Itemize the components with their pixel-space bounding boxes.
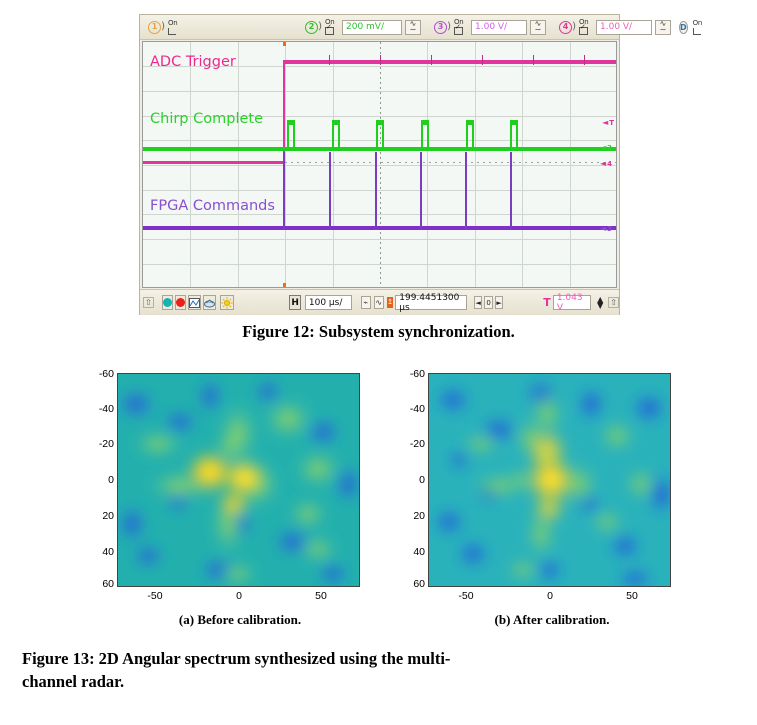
roll-mode-icon[interactable]: ∿	[374, 296, 384, 309]
digital-checkbox[interactable]	[693, 28, 701, 35]
heatmap-b-ytick: -40	[397, 403, 425, 415]
waveform-label-chirp-complete: Chirp Complete	[150, 111, 263, 127]
figure-13-caption-line1: Figure 13: 2D Angular spectrum synthesiz…	[22, 649, 752, 669]
marker-arrow-icon: ◄	[600, 159, 606, 168]
trigger-level-field[interactable]: 1.043 V	[553, 295, 591, 310]
scope-waveform-plot[interactable]: ADC Trigger Chirp Complete FPGA Commands…	[142, 41, 617, 288]
channel-2-scale-field[interactable]: 200 mV/	[342, 20, 402, 35]
chirp-complete-pulse	[287, 120, 295, 151]
trigger-level-stepper[interactable]: ▲ ▼	[597, 297, 603, 309]
fpga-command-pulse	[375, 152, 377, 230]
channel-3-checkbox[interactable]	[454, 27, 463, 35]
channel-4-number[interactable]: 4	[559, 21, 575, 34]
figure-13-caption-line2: channel radar.	[22, 672, 752, 692]
channel-3-on-toggle[interactable]: On	[454, 19, 467, 35]
stepper-down-icon[interactable]: ▼	[597, 303, 603, 309]
channel-2-on-toggle[interactable]: On	[325, 19, 338, 35]
heatmap-a-ytick: 40	[86, 546, 114, 558]
marker-channel-3[interactable]: ◄ 3	[600, 224, 612, 233]
adc-trigger-spike	[380, 55, 381, 65]
heatmap-a-ytick: -60	[86, 368, 114, 380]
marker-trigger-label: T	[609, 119, 614, 127]
center-vertical-axis	[380, 42, 381, 287]
heatmap-a-xtick: 50	[306, 590, 336, 602]
figure-12-caption: Figure 12: Subsystem synchronization.	[0, 322, 757, 342]
heatmap-a-ytick: -40	[86, 403, 114, 415]
waveform-label-adc-trigger: ADC Trigger	[150, 54, 236, 70]
channel-3-group[interactable]: 3 On 1.00 V/ ∿∼	[428, 15, 546, 40]
channel-4-on-toggle[interactable]: On	[579, 19, 592, 35]
chirp-complete-pulse	[510, 120, 518, 151]
run-icon[interactable]	[162, 295, 173, 310]
marker-channel-3-label: 3	[607, 225, 612, 233]
oscilloscope-screenshot: 1 On 2 On 200 mV/ ∿∼ 3 On	[139, 14, 620, 315]
scope-top-toolbar: 1 On 2 On 200 mV/ ∿∼ 3 On	[140, 15, 619, 40]
save-icon[interactable]	[203, 295, 216, 310]
gridline-v	[333, 42, 334, 287]
chirp-complete-pulse	[421, 120, 429, 151]
digital-on-text: On	[693, 20, 702, 27]
trigger-position-marker-bottom[interactable]	[283, 283, 286, 287]
delay-value-field[interactable]: 0	[484, 296, 493, 309]
fpga-command-pulse	[510, 152, 512, 230]
fpga-command-pulse	[420, 152, 422, 230]
heatmap-b-ytick: -60	[397, 368, 425, 380]
channel-1-number[interactable]: 1	[148, 21, 164, 34]
channel-2-label: 2	[305, 21, 318, 34]
adc-trigger-spike	[584, 55, 585, 65]
horizontal-button[interactable]: H	[289, 295, 300, 310]
trigger-position-marker-top[interactable]	[283, 42, 286, 46]
delay-decrement-button[interactable]: ◄	[474, 296, 483, 309]
waveform-label-fpga-commands: FPGA Commands	[150, 198, 275, 214]
scope-bottom-toolbar: ⇧ H 100 µs/ ⌁ ∿ ↥ 199.4451300 µs ◄ 0 ► T…	[140, 289, 619, 315]
heatmap-b-ytick: 60	[397, 578, 425, 590]
chirp-complete-pulse	[332, 120, 340, 151]
channel-3-coupling-icon[interactable]: ∿∼	[530, 20, 546, 35]
fpga-commands-baseline	[143, 226, 617, 230]
chirp-complete-pulse	[466, 120, 474, 151]
gridline-v	[570, 42, 571, 287]
channel-2-checkbox[interactable]	[325, 27, 334, 35]
adc-trigger-high-segment	[284, 60, 617, 64]
autoscale-icon[interactable]	[220, 295, 234, 310]
subcaption-a: (a) Before calibration.	[100, 612, 380, 628]
channel-2-group[interactable]: 2 On 200 mV/ ∿∼	[299, 15, 421, 40]
marker-trigger[interactable]: ◄ T	[602, 118, 614, 127]
heatmap-b-plot-area[interactable]	[428, 373, 671, 587]
gridline-v	[427, 42, 428, 287]
heatmap-a-xtick: -50	[140, 590, 170, 602]
heatmap-b-ytick: 20	[397, 510, 425, 522]
marker-arrow-icon: ◄	[600, 224, 606, 233]
marker-channel-4[interactable]: ◄ 4	[600, 159, 612, 168]
heatmap-a-ytick: 20	[86, 510, 114, 522]
heatmap-a-ytick: -20	[86, 438, 114, 450]
channel-2-number[interactable]: 2	[305, 21, 321, 34]
channel-3-scale-field[interactable]: 1.00 V/	[471, 20, 527, 35]
marker-channel-4-label: 4	[607, 160, 612, 168]
heatmap-b-ytick: 40	[397, 546, 425, 558]
delay-increment-button[interactable]: ►	[495, 296, 504, 309]
heatmap-a-ytick: 60	[86, 578, 114, 590]
heatmap-b-xtick: 50	[617, 590, 647, 602]
gridline-v	[238, 42, 239, 287]
heatmap-a-plot-area[interactable]	[117, 373, 360, 587]
trigger-label[interactable]: T	[543, 296, 551, 309]
heatmap-b-ytick: -20	[397, 438, 425, 450]
fpga-command-pulse	[465, 152, 467, 230]
gridline-v	[522, 42, 523, 287]
stop-icon[interactable]	[175, 295, 186, 310]
channel-1-checkbox[interactable]	[168, 28, 176, 35]
chirp-complete-pulse	[376, 120, 384, 151]
channel-4-checkbox[interactable]	[579, 27, 588, 35]
delay-reference-icon[interactable]: ↥	[387, 297, 394, 308]
channel-2-coupling-icon[interactable]: ∿∼	[405, 20, 421, 35]
gridline-v	[190, 42, 191, 287]
channel-4-ground-reference	[285, 162, 616, 163]
adc-trigger-spike	[533, 55, 534, 65]
left-handle-icon[interactable]: ⇧	[143, 297, 154, 308]
subcaption-b: (b) After calibration.	[412, 612, 692, 628]
marker-arrow-icon: ◄	[600, 143, 606, 152]
channel-1-label: 1	[148, 21, 161, 34]
channel-4-coupling-icon[interactable]: ∿∼	[655, 20, 671, 35]
fpga-command-pulse	[283, 152, 285, 230]
heatmap-a-xtick: 0	[224, 590, 254, 602]
channel-4-group[interactable]: 4 On 1.00 V/ ∿∼	[553, 15, 671, 40]
right-handle-icon[interactable]: ⇧	[608, 297, 619, 308]
delay-field[interactable]: 199.4451300 µs	[395, 295, 467, 310]
marker-arrow-icon: ◄	[602, 118, 608, 127]
digital-channels-button[interactable]: D	[679, 21, 688, 34]
digital-on-toggle[interactable]: On	[693, 20, 702, 35]
fpga-command-pulse	[329, 152, 331, 230]
heatmap-b-xtick: -50	[451, 590, 481, 602]
gridline-v	[285, 42, 286, 287]
marker-channel-2-label: 2	[607, 144, 612, 152]
channel-3-number[interactable]: 3	[434, 21, 450, 34]
heatmap-b-ytick: 0	[397, 474, 425, 486]
gridline-v	[475, 42, 476, 287]
channel-4-scale-field[interactable]: 1.00 V/	[596, 20, 652, 35]
channel-3-label: 3	[434, 21, 447, 34]
channel-4-label: 4	[559, 21, 572, 34]
adc-trigger-spike	[482, 55, 483, 65]
timebase-field[interactable]: 100 µs/	[305, 295, 352, 310]
heatmap-b-xtick: 0	[535, 590, 565, 602]
channel-1-on-toggle[interactable]: On	[168, 20, 181, 35]
channel-1-on-text: On	[168, 20, 181, 27]
adc-trigger-spike	[431, 55, 432, 65]
heatmap-a-ytick: 0	[86, 474, 114, 486]
single-capture-icon[interactable]	[188, 295, 201, 310]
zoom-window-icon[interactable]: ⌁	[361, 296, 371, 309]
adc-trigger-low-segment	[143, 161, 284, 164]
adc-trigger-spike	[329, 55, 330, 65]
heatmap-b-image	[429, 374, 670, 586]
heatmap-a-image	[118, 374, 359, 586]
channel-1-group[interactable]: 1 On	[142, 15, 181, 40]
marker-channel-2[interactable]: ◄ 2	[600, 143, 612, 152]
